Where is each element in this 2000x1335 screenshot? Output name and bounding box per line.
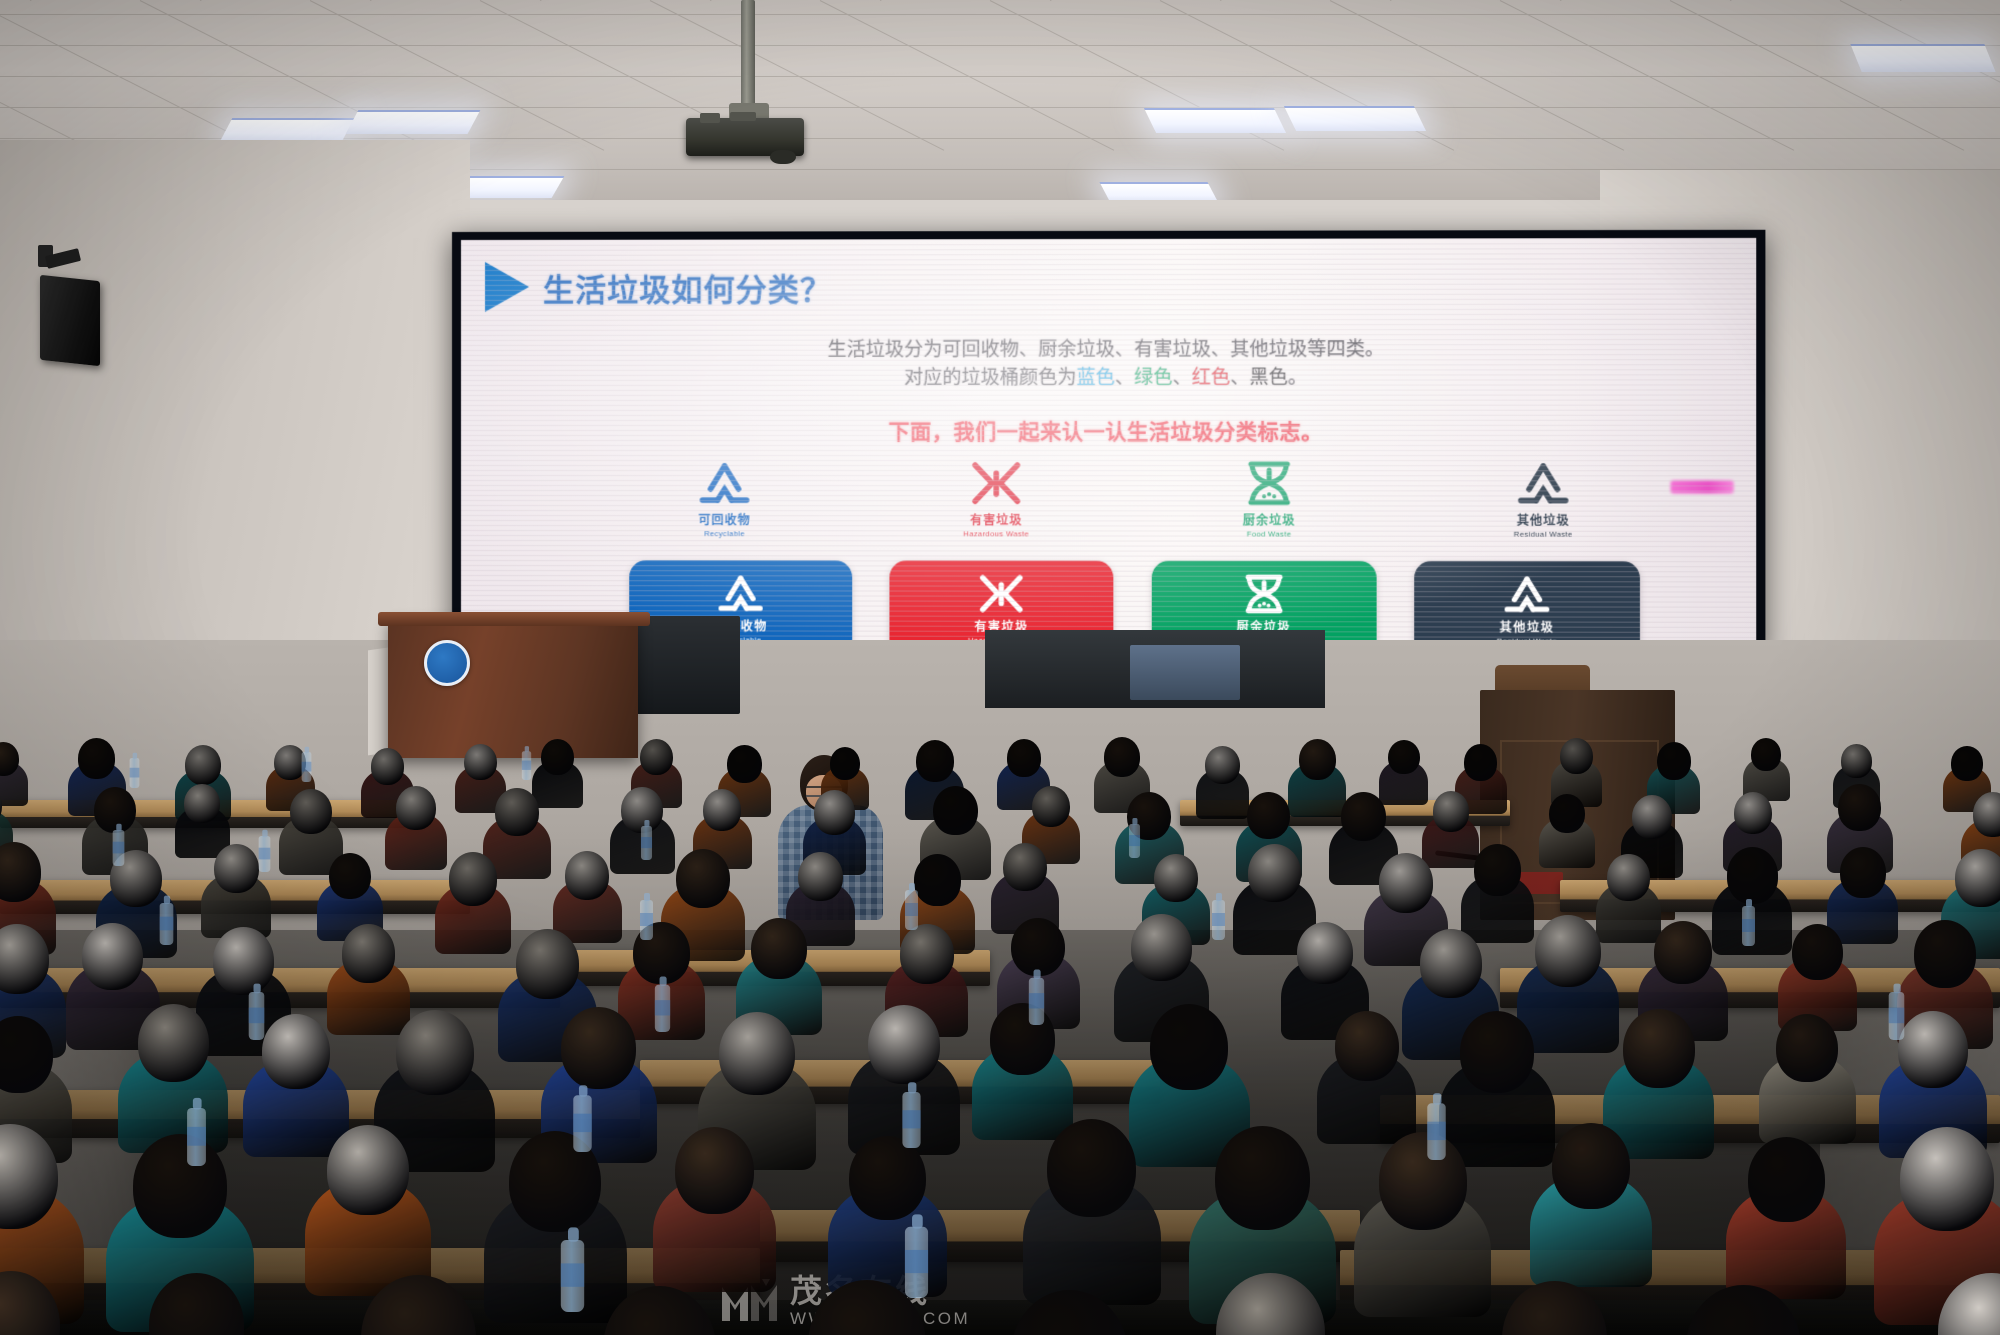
icon-label-en: Food Waste <box>1193 530 1345 539</box>
water-bottle <box>1212 900 1225 940</box>
bottle-label <box>1129 835 1140 846</box>
bottle-label <box>522 761 531 770</box>
bottle-label <box>561 1263 584 1286</box>
hourglass-icon <box>1238 458 1301 508</box>
waste-icon-hazardous: 有害垃圾 Hazardous Waste <box>921 458 1072 538</box>
audience-member-head <box>1632 795 1672 839</box>
audience-member-head <box>82 923 143 990</box>
water-bottle <box>259 836 271 872</box>
audience-member-head <box>1150 1004 1228 1090</box>
audience-member-head <box>1047 1119 1136 1217</box>
audience-member-head <box>1914 920 1976 988</box>
audience-member-head <box>1549 794 1585 833</box>
bottle-label <box>1742 919 1755 932</box>
sep-3: 、 <box>1230 367 1249 388</box>
bottle-label <box>573 1114 591 1132</box>
bottle-label <box>655 1000 670 1015</box>
water-bottle <box>130 758 140 788</box>
bottle-label <box>160 917 174 931</box>
audience-member-head <box>1898 1011 1968 1088</box>
audience-member-head <box>1776 1014 1839 1083</box>
audience-member-head <box>1299 739 1336 780</box>
bottle-label <box>902 1110 920 1128</box>
bottle-label <box>302 762 312 772</box>
water-bottle <box>160 903 174 945</box>
audience-member-head <box>1420 929 1482 998</box>
slide-title-row: 生活垃圾如何分类？ <box>479 261 832 312</box>
slide-title: 生活垃圾如何分类？ <box>543 264 832 309</box>
audience-member-head <box>675 1127 754 1214</box>
audience-member-head <box>184 784 219 823</box>
waste-icon-row: 可回收物 Recyclable 有害垃圾 Hazardous Waste <box>649 458 1619 539</box>
audience-member-head <box>914 854 962 907</box>
period: 。 <box>1288 367 1307 388</box>
audience-member-head <box>290 789 331 834</box>
audience-member-head <box>1607 854 1649 901</box>
audience-member-head <box>900 924 954 983</box>
audience-member-head <box>1379 853 1433 913</box>
audience-member-head <box>1748 1137 1825 1222</box>
audience-member-head <box>495 788 538 836</box>
projection-pink-artifact <box>1671 480 1734 493</box>
audience-member-head <box>464 744 497 781</box>
water-bottle <box>655 985 670 1032</box>
hourglass-icon <box>1234 572 1293 616</box>
audience-member-head <box>830 747 861 781</box>
audience-member-head <box>1535 915 1601 987</box>
audience-member-head <box>1727 847 1779 904</box>
waste-icon-recyclable: 可回收物 Recyclable <box>649 458 800 538</box>
audience-member-head <box>565 851 609 900</box>
audience-member-head <box>1623 1009 1695 1088</box>
audience-member-head <box>1734 792 1772 834</box>
waste-tile-residual[interactable]: 其他垃圾 Residual Waste <box>1414 561 1640 645</box>
audience-member-head <box>213 927 274 995</box>
audience-member-head <box>1388 740 1419 775</box>
water-bottle <box>249 992 265 1040</box>
audience-member-head <box>449 852 498 906</box>
audience-member-head <box>327 1125 409 1215</box>
audience-member-head <box>933 786 978 836</box>
audience-member-head <box>1341 792 1386 841</box>
audience-member-head <box>1654 921 1712 984</box>
icon-label-en: Recyclable <box>649 529 800 538</box>
audience-member-head <box>1104 737 1140 777</box>
water-bottle <box>573 1095 591 1152</box>
icon-label-zh: 其他垃圾 <box>1467 512 1620 529</box>
sep-2: 、 <box>1172 367 1191 388</box>
bottle-label <box>905 903 918 916</box>
water-bottle <box>905 890 918 930</box>
audience-member-head <box>1955 849 2000 907</box>
bottle-label <box>905 1250 928 1273</box>
water-bottle <box>641 826 652 860</box>
waste-icon-food: 厨余垃圾 Food Waste <box>1193 458 1345 539</box>
audience-member-head <box>133 1134 228 1238</box>
slide-headline: 下面，我们一起来认一认生活垃圾分类标志。 <box>461 416 1756 446</box>
bottle-label <box>113 842 125 854</box>
waste-icon-residual: 其他垃圾 Residual Waste <box>1467 458 1620 539</box>
paragraph-line-1: 生活垃圾分为可回收物、厨余垃圾、有害垃圾、其他垃圾等四类。 <box>461 336 1756 365</box>
residual-triangle-icon <box>1512 458 1575 508</box>
audience-member-head <box>1003 843 1047 891</box>
bottle-label <box>640 913 653 926</box>
podium <box>388 618 638 758</box>
audience-member-head <box>1379 1132 1467 1229</box>
audience-member-head <box>719 1012 795 1096</box>
audience-member-head <box>640 739 673 775</box>
ceiling-light-panel <box>1850 44 1995 72</box>
icon-label-zh: 可回收物 <box>649 511 800 528</box>
audience-member-head <box>396 1010 474 1096</box>
water-bottle <box>640 900 653 940</box>
hazard-x-icon <box>965 458 1028 508</box>
podium-top <box>378 612 650 626</box>
water-bottle <box>902 1092 920 1148</box>
bottle-label <box>1889 1008 1905 1024</box>
icon-label-en: Hazardous Waste <box>921 529 1072 538</box>
audience-member-head <box>1973 792 2000 837</box>
audience-member-head <box>561 1007 636 1089</box>
audience-member-head <box>1841 744 1872 778</box>
audience-member-head <box>1840 847 1886 898</box>
audience-member-head <box>1433 791 1470 832</box>
audience-member-head <box>849 1136 926 1221</box>
audience-member-head <box>1248 844 1301 902</box>
bottle-label <box>187 1127 206 1146</box>
audience-member-head <box>185 745 221 785</box>
color-word-green: 绿色 <box>1134 367 1172 388</box>
water-bottle <box>1427 1103 1445 1160</box>
audience-member-head <box>1007 739 1041 777</box>
audience-member-head <box>1011 918 1064 977</box>
audience-member-head <box>1154 854 1198 902</box>
residual-triangle-icon <box>1497 572 1556 616</box>
triangle-marker-icon <box>485 262 529 312</box>
audience-member-head <box>1792 924 1843 980</box>
bottle-label <box>249 1008 265 1024</box>
audience-member-head <box>1900 1127 1995 1231</box>
audience-member-head <box>78 738 115 779</box>
color-word-red: 红色 <box>1192 367 1230 388</box>
water-bottle <box>302 752 312 782</box>
bottle-label <box>130 768 140 778</box>
paragraph-line-2: 对应的垃圾桶颜色为蓝色、绿色、红色、黑色。 <box>461 364 1756 392</box>
projector-mount-pole <box>741 0 755 112</box>
stage-monitor <box>1130 645 1240 700</box>
water-bottle <box>561 1240 584 1312</box>
ceiling-light-panel <box>1284 106 1426 131</box>
audience-member-head <box>798 852 843 901</box>
projector-knob <box>730 112 756 121</box>
wall-speaker <box>40 275 100 366</box>
audience-member-head <box>214 844 259 894</box>
audience-member-head <box>751 918 807 979</box>
bottle-label <box>1427 1122 1445 1140</box>
recycle-triangle-icon <box>693 458 755 508</box>
sep-1: 、 <box>1115 367 1134 388</box>
audience-member-head <box>727 745 761 783</box>
audience-member-head <box>262 1014 330 1089</box>
icon-label-zh: 有害垃圾 <box>921 511 1072 528</box>
audience-member-head <box>1560 738 1593 774</box>
water-bottle <box>113 830 125 866</box>
audience-member-head <box>516 929 580 999</box>
audience-member-head <box>138 1004 209 1082</box>
icon-label-en: Residual Waste <box>1467 530 1620 539</box>
audience-member-head <box>868 1005 940 1084</box>
audience-member-head <box>814 790 855 835</box>
audience-member-head <box>329 853 371 900</box>
water-bottle <box>187 1108 206 1166</box>
podium-emblem <box>424 640 470 686</box>
bottle-label <box>259 848 271 860</box>
audience-member-head <box>1657 742 1691 780</box>
audience-member-head <box>1464 744 1498 781</box>
color-word-black: 黑色 <box>1249 367 1288 388</box>
audience-member-head <box>1474 844 1521 896</box>
water-bottle <box>522 751 531 780</box>
water-bottle <box>1742 906 1755 946</box>
projector-lens <box>770 150 796 164</box>
water-bottle <box>1889 992 1905 1040</box>
bottle-label <box>1212 913 1225 926</box>
icon-label-zh: 厨余垃圾 <box>1193 511 1345 528</box>
color-word-blue: 蓝色 <box>1076 367 1114 388</box>
ceiling-light-panel <box>220 118 355 142</box>
audience-member-head <box>94 787 136 834</box>
hazard-x-icon <box>972 572 1031 616</box>
water-bottle <box>1129 824 1140 858</box>
lecture-hall-photo: 生活垃圾如何分类？ 生活垃圾分为可回收物、厨余垃圾、有害垃圾、其他垃圾等四类。 … <box>0 0 2000 1335</box>
audience-member-head <box>1552 1123 1630 1209</box>
tile-label-zh: 其他垃圾 <box>1499 618 1554 635</box>
audience-member-head <box>1951 746 1982 781</box>
paragraph-line-2-prefix: 对应的垃圾桶颜色为 <box>904 367 1076 388</box>
audience-member-head <box>703 789 741 831</box>
audience-member-head <box>990 1003 1055 1075</box>
audience-member-head <box>371 748 405 785</box>
water-bottle <box>905 1227 928 1298</box>
audience-member-head <box>1032 786 1070 827</box>
projection-screen-frame: 生活垃圾如何分类？ 生活垃圾分为可回收物、厨余垃圾、有害垃圾、其他垃圾等四类。 … <box>452 230 1765 654</box>
audience-member-head <box>1838 784 1881 831</box>
bottle-label <box>641 837 652 848</box>
audience-member-head <box>1205 746 1240 784</box>
audience-member-head <box>342 924 395 983</box>
water-bottle <box>1029 978 1044 1025</box>
audience-member-head <box>1215 1126 1310 1230</box>
audience-member-head <box>396 786 436 830</box>
audience-member-head <box>1335 1011 1399 1081</box>
audience-member-head <box>1247 792 1290 839</box>
bottle-label <box>1029 993 1044 1008</box>
audience-member-head <box>1751 738 1781 771</box>
audience-member-head <box>541 739 574 775</box>
audience-member-head <box>1460 1011 1535 1093</box>
audience-member-head <box>1131 914 1192 981</box>
ceiling-light-panel <box>1144 108 1286 133</box>
ceiling-light-panel <box>346 110 481 134</box>
audience-member-head <box>1297 922 1354 984</box>
audience-member-head <box>916 740 954 782</box>
audience-member-head <box>676 849 730 908</box>
projector-knob <box>700 113 720 123</box>
projected-slide: 生活垃圾如何分类？ 生活垃圾分为可回收物、厨余垃圾、有害垃圾、其他垃圾等四类。 … <box>461 238 1756 645</box>
slide-paragraph: 生活垃圾分为可回收物、厨余垃圾、有害垃圾、其他垃圾等四类。 对应的垃圾桶颜色为蓝… <box>461 336 1756 392</box>
recycle-triangle-icon <box>711 571 769 615</box>
